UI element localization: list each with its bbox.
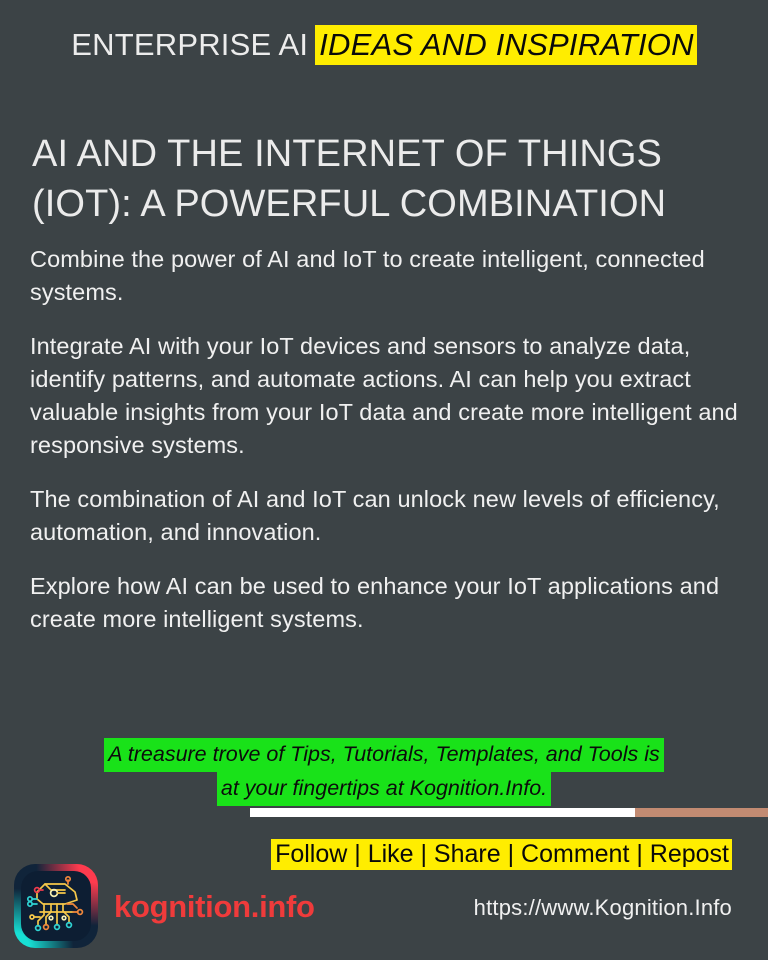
site-url[interactable]: https://www.Kognition.Info: [474, 894, 732, 922]
kicker-plain-text: ENTERPRISE AI: [71, 27, 308, 62]
page-title: AI AND THE INTERNET OF THINGS (IOT): A P…: [32, 129, 744, 229]
body-paragraph-2: Integrate AI with your IoT devices and s…: [30, 330, 740, 462]
page-title-line-1: AI AND THE INTERNET OF THINGS: [32, 129, 744, 179]
circuit-brain-icon: [14, 864, 98, 948]
body-copy: Combine the power of AI and IoT to creat…: [30, 243, 740, 636]
promo-line-2-row: at your fingertips at Kognition.Info.: [0, 772, 768, 806]
promo-line-1-row: A treasure trove of Tips, Tutorials, Tem…: [0, 738, 768, 772]
kicker: ENTERPRISE AIIDEAS AND INSPIRATION: [0, 24, 768, 66]
promo-callout: A treasure trove of Tips, Tutorials, Tem…: [0, 738, 768, 806]
kicker-highlighted-text: IDEAS AND INSPIRATION: [315, 25, 697, 65]
footer: kognition.info https://www.Kognition.Inf…: [0, 862, 768, 960]
divider-segment-white: [250, 808, 635, 817]
brand-lockup[interactable]: kognition.info: [14, 864, 315, 948]
body-paragraph-3: The combination of AI and IoT can unlock…: [30, 483, 740, 549]
brand-wordmark: kognition.info: [114, 891, 315, 922]
body-paragraph-1: Combine the power of AI and IoT to creat…: [30, 243, 740, 309]
promo-line-2: at your fingertips at Kognition.Info.: [217, 772, 551, 806]
promo-line-1: A treasure trove of Tips, Tutorials, Tem…: [104, 738, 664, 772]
slide-canvas: ENTERPRISE AIIDEAS AND INSPIRATION AI AN…: [0, 0, 768, 960]
divider: [250, 808, 768, 817]
divider-segment-tan: [635, 808, 768, 817]
body-paragraph-4: Explore how AI can be used to enhance yo…: [30, 570, 740, 636]
page-title-line-2: (IOT): A POWERFUL COMBINATION: [32, 179, 744, 229]
logo-inner-panel: [21, 871, 91, 941]
